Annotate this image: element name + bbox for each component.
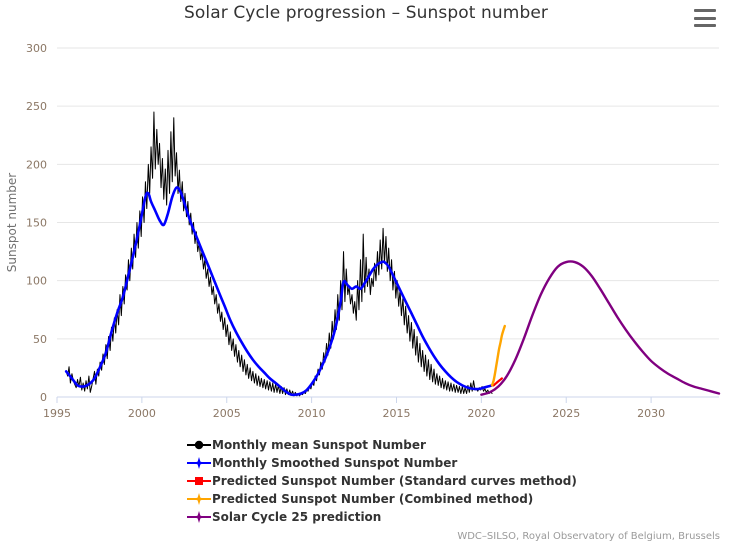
legend-marker-icon: [186, 454, 212, 472]
x-axis-tick-label: 2010: [298, 407, 326, 420]
legend-item-predicted-combined[interactable]: Predicted Sunspot Number (Combined metho…: [186, 490, 606, 508]
legend-item-label: Solar Cycle 25 prediction: [212, 510, 381, 524]
x-axis-tick-label: 2020: [467, 407, 495, 420]
y-axis-tick-label: 150: [26, 217, 47, 230]
legend-marker-icon: [186, 508, 212, 526]
chart-legend: Monthly mean Sunspot NumberMonthly Smoot…: [186, 436, 606, 526]
legend-item-monthly-smoothed[interactable]: Monthly Smoothed Sunspot Number: [186, 454, 606, 472]
x-axis-tick-label: 1995: [43, 407, 71, 420]
legend-item-label: Predicted Sunspot Number (Standard curve…: [212, 474, 577, 488]
legend-marker-icon: [186, 472, 212, 490]
legend-marker-icon: [186, 490, 212, 508]
legend-item-predicted-standard[interactable]: Predicted Sunspot Number (Standard curve…: [186, 472, 606, 490]
x-axis-tick-label: 2005: [213, 407, 241, 420]
chart-credits: WDC–SILSO, Royal Observatory of Belgium,…: [457, 531, 720, 542]
legend-item-label: Monthly Smoothed Sunspot Number: [212, 456, 457, 470]
y-axis-tick-label: 0: [40, 391, 47, 404]
y-axis-tick-label: 300: [26, 42, 47, 55]
series-line: [66, 112, 492, 396]
y-axis-tick-label: 200: [26, 158, 47, 171]
legend-item-label: Predicted Sunspot Number (Combined metho…: [212, 492, 533, 506]
x-axis-tick-label: 2015: [382, 407, 410, 420]
y-axis-title: Sunspot number: [5, 173, 19, 272]
legend-marker-icon: [186, 436, 212, 454]
y-axis-tick-label: 100: [26, 275, 47, 288]
series-line: [481, 261, 719, 394]
legend-item-monthly-mean[interactable]: Monthly mean Sunspot Number: [186, 436, 606, 454]
x-axis-tick-label: 2030: [637, 407, 665, 420]
y-axis-tick-label: 250: [26, 100, 47, 113]
x-axis-tick-label: 2025: [552, 407, 580, 420]
x-axis-tick-label: 2000: [128, 407, 156, 420]
legend-item-cycle25-prediction[interactable]: Solar Cycle 25 prediction: [186, 508, 606, 526]
legend-item-label: Monthly mean Sunspot Number: [212, 438, 426, 452]
y-axis-tick-label: 50: [33, 333, 47, 346]
chart-container: Solar Cycle progression – Sunspot number…: [0, 0, 732, 551]
series-line: [492, 326, 505, 385]
